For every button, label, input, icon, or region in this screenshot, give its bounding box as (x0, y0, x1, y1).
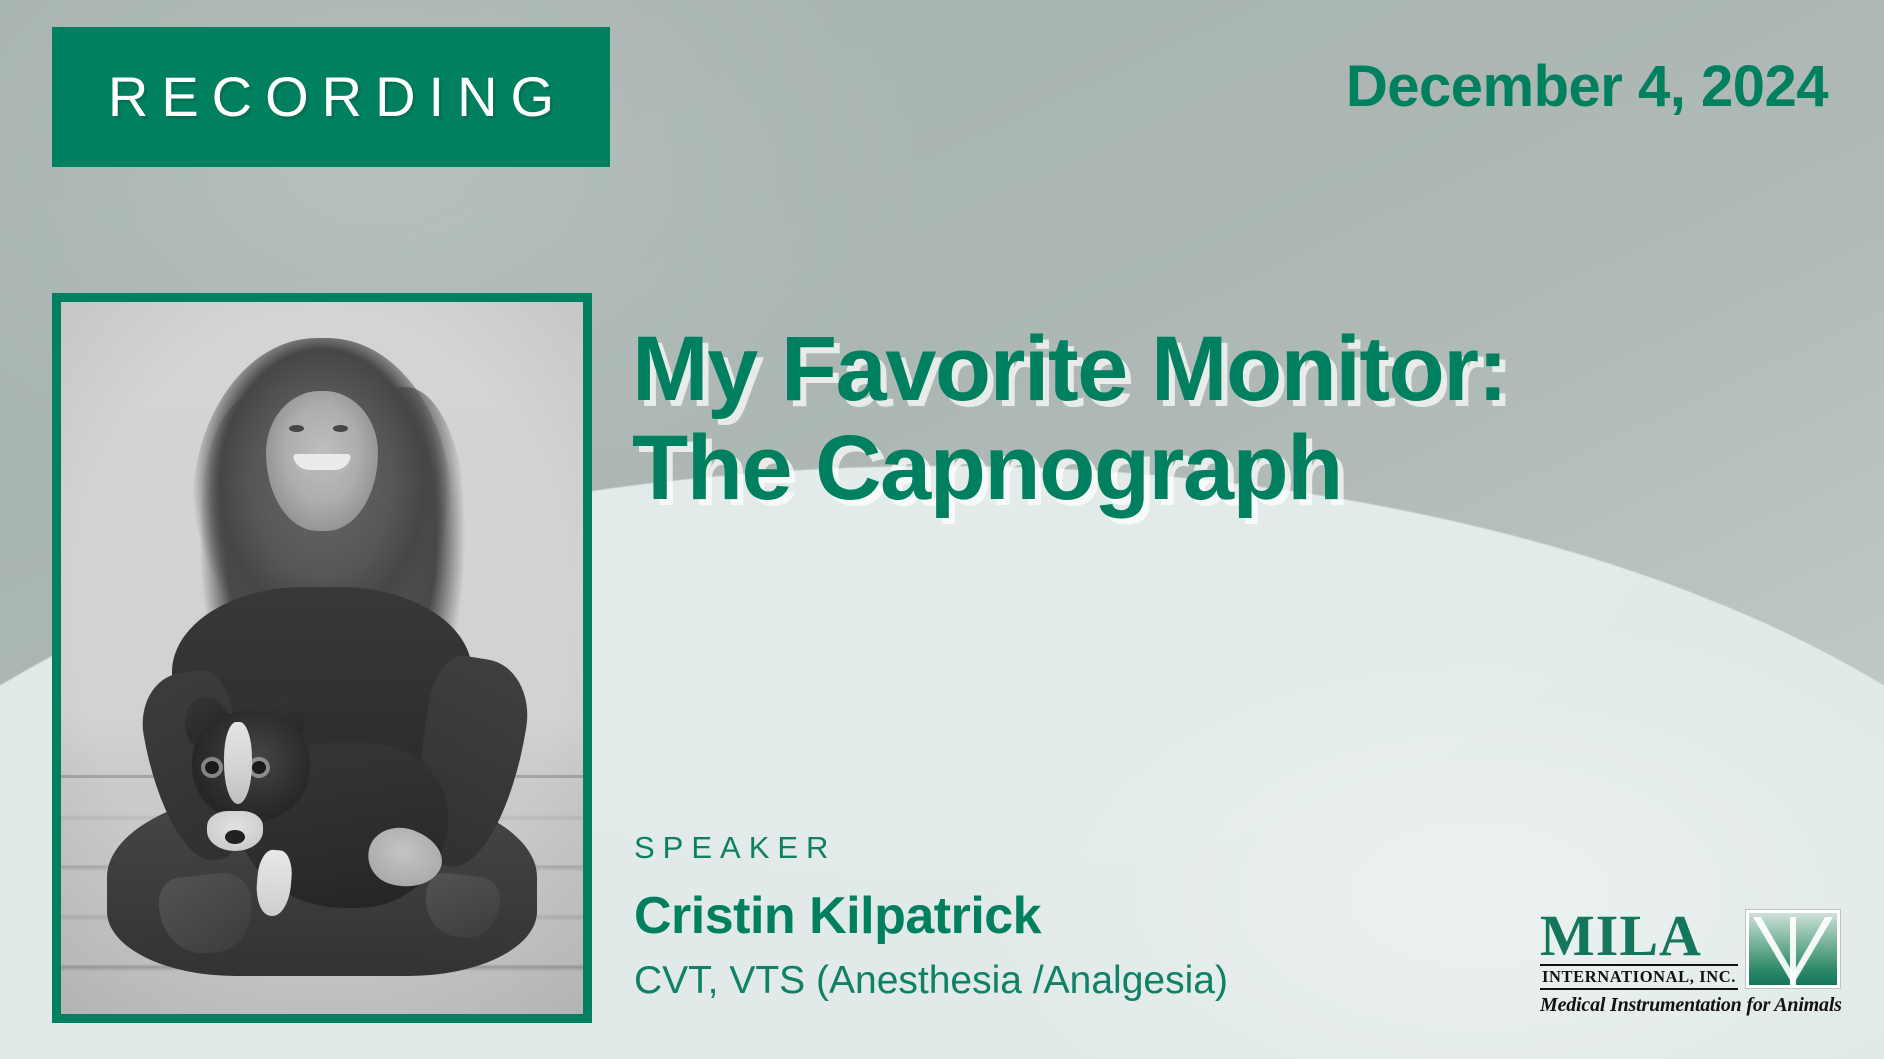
speaker-photo-frame (52, 293, 592, 1023)
mila-logo: MILA INTERNATIONAL, INC. Medical Instrum… (1540, 909, 1840, 1017)
title-line-2: The Capnograph (632, 419, 1832, 518)
mila-brand-text: MILA (1540, 909, 1702, 962)
webinar-promo-poster: RECORDING December 4, 2024 (0, 0, 1884, 1059)
mila-tagline-text: Medical Instrumentation for Animals (1540, 994, 1840, 1017)
speaker-role-label: SPEAKER (634, 832, 836, 863)
mila-logo-wordmark-group: MILA INTERNATIONAL, INC. (1540, 909, 1738, 990)
speaker-credentials: CVT, VTS (Anesthesia /Analgesia) (634, 960, 1228, 1003)
photo-vignette (61, 302, 583, 1014)
recording-badge: RECORDING (52, 27, 610, 167)
mila-entity-text: INTERNATIONAL, INC. (1540, 964, 1738, 990)
page-title: My Favorite Monitor: The Capnograph (632, 320, 1832, 519)
mila-logo-top-row: MILA INTERNATIONAL, INC. (1540, 909, 1840, 990)
event-date: December 4, 2024 (1346, 55, 1828, 119)
mila-emblem-icon (1746, 910, 1840, 988)
recording-badge-label: RECORDING (95, 69, 567, 125)
title-line-1: My Favorite Monitor: (632, 320, 1832, 419)
speaker-photo (61, 302, 583, 1014)
speaker-name: Cristin Kilpatrick (634, 890, 1041, 942)
